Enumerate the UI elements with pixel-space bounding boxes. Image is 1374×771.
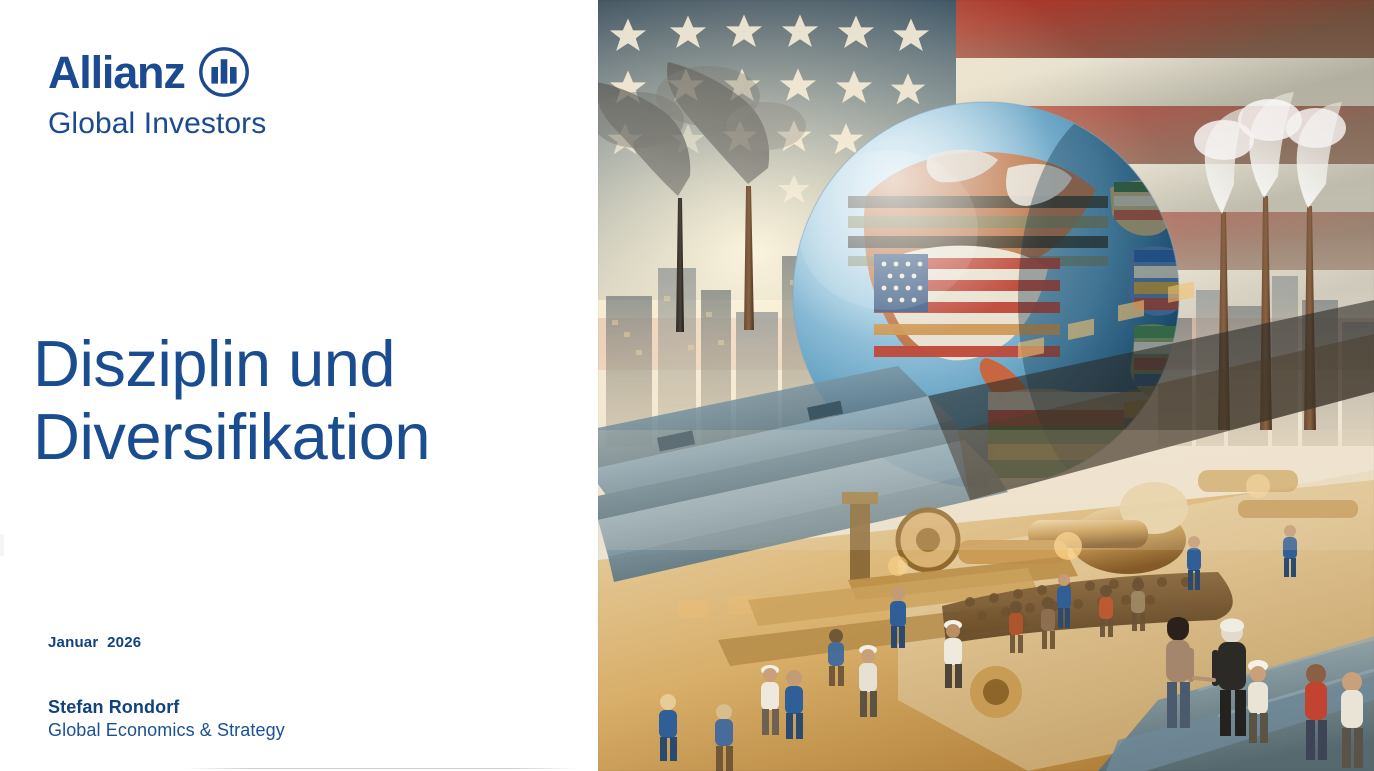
- bottom-divider: [183, 768, 579, 769]
- presenter-block: Stefan Rondorf Global Economics & Strate…: [48, 696, 285, 743]
- presentation-slide: Allianz Global Investors Disziplin und D…: [0, 0, 1374, 771]
- logo-subname: Global Investors: [48, 107, 308, 140]
- page-title: Disziplin und Diversifikation: [33, 327, 578, 474]
- left-edge-marker: [0, 534, 4, 556]
- logo-wordmark-row: Allianz: [48, 44, 308, 100]
- logo-wordmark: Allianz: [48, 50, 185, 95]
- title-panel: Allianz Global Investors Disziplin und D…: [0, 0, 598, 771]
- slide-date: Januar 2026: [48, 634, 141, 651]
- presenter-name: Stefan Rondorf: [48, 696, 285, 719]
- presenter-role: Global Economics & Strategy: [48, 719, 285, 742]
- globe-flags-industry-illustration: [598, 0, 1374, 771]
- page-title-line-1: Disziplin und: [33, 327, 578, 400]
- page-title-line-2: Diversifikation: [33, 400, 578, 473]
- allianz-global-investors-logo: Allianz Global Investors: [48, 44, 308, 149]
- allianz-bars-circle-icon: [198, 46, 250, 98]
